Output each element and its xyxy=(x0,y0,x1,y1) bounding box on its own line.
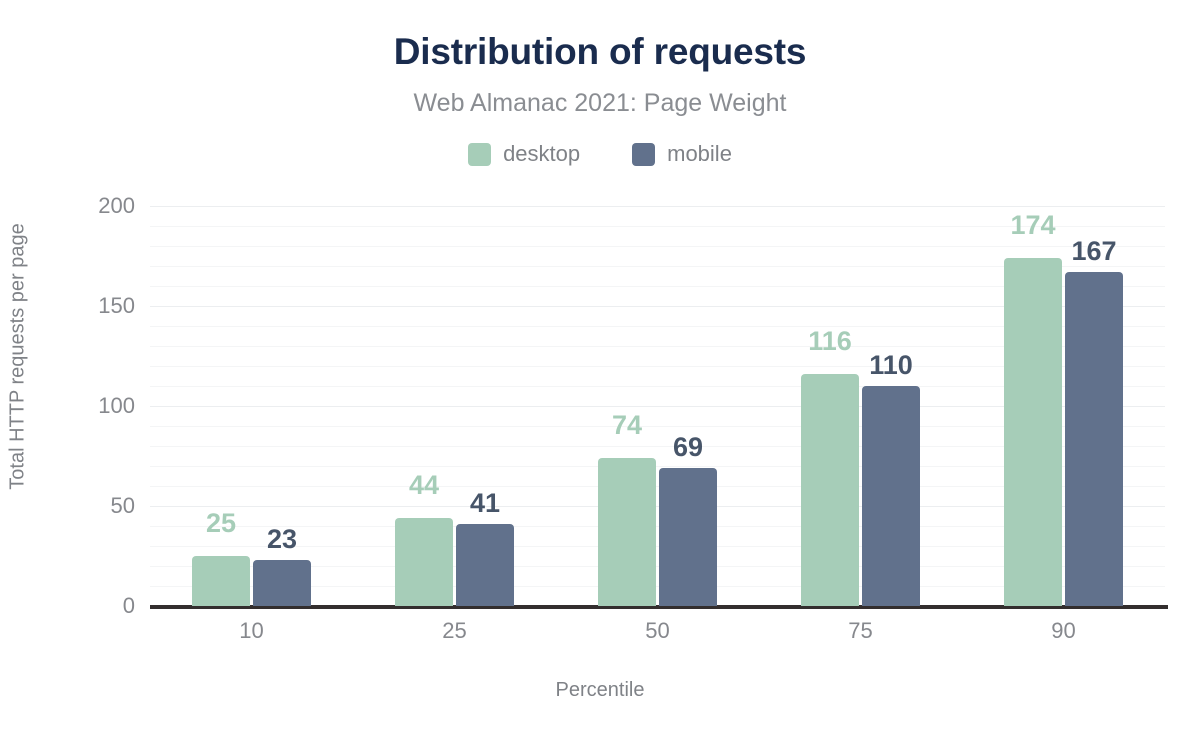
bar-value-label-desktop-75: 116 xyxy=(808,326,852,356)
chart-subtitle: Web Almanac 2021: Page Weight xyxy=(0,88,1200,118)
bar-mobile-90[interactable] xyxy=(1065,272,1123,606)
bar-value-label-mobile-10: 23 xyxy=(267,524,297,554)
bar-mobile-25[interactable] xyxy=(456,524,514,606)
legend-label-mobile: mobile xyxy=(667,142,732,166)
bar-value-label-mobile-50: 69 xyxy=(673,432,703,462)
legend-item-mobile[interactable]: mobile xyxy=(632,142,732,166)
chart-title: Distribution of requests xyxy=(0,30,1200,74)
bar-value-label-mobile-90: 167 xyxy=(1071,236,1116,266)
bar-desktop-75[interactable] xyxy=(801,374,859,606)
x-axis-tick-label: 75 xyxy=(848,618,872,644)
chart-bars: 252344417469116110174167 xyxy=(150,206,1165,606)
bar-value-label-desktop-50: 74 xyxy=(612,410,642,440)
bar-value-label-mobile-25: 41 xyxy=(470,488,500,518)
y-axis-title: Total HTTP requests per page xyxy=(7,107,30,607)
bar-desktop-90[interactable] xyxy=(1004,258,1062,606)
bar-mobile-50[interactable] xyxy=(659,468,717,606)
x-axis-ticks: 1025507590 xyxy=(150,618,1165,648)
bar-desktop-10[interactable] xyxy=(192,556,250,606)
bar-mobile-75[interactable] xyxy=(862,386,920,606)
chart-legend: desktop mobile xyxy=(0,142,1200,166)
x-axis-tick-label: 10 xyxy=(239,618,263,644)
bar-value-label-desktop-25: 44 xyxy=(409,470,439,500)
legend-swatch-desktop xyxy=(468,143,491,166)
bar-desktop-25[interactable] xyxy=(395,518,453,606)
x-axis-tick-label: 50 xyxy=(645,618,669,644)
bar-desktop-50[interactable] xyxy=(598,458,656,606)
x-axis-tick-label: 25 xyxy=(442,618,466,644)
x-axis-title: Percentile xyxy=(0,678,1200,702)
chart-container: Distribution of requests Web Almanac 202… xyxy=(0,0,1200,742)
legend-label-desktop: desktop xyxy=(503,142,580,166)
bar-value-label-desktop-90: 174 xyxy=(1010,210,1055,240)
legend-item-desktop[interactable]: desktop xyxy=(468,142,580,166)
legend-swatch-mobile xyxy=(632,143,655,166)
bar-value-label-desktop-10: 25 xyxy=(206,508,236,538)
x-axis-tick-label: 90 xyxy=(1051,618,1075,644)
bar-mobile-10[interactable] xyxy=(253,560,311,606)
bar-value-label-mobile-75: 110 xyxy=(869,350,913,380)
